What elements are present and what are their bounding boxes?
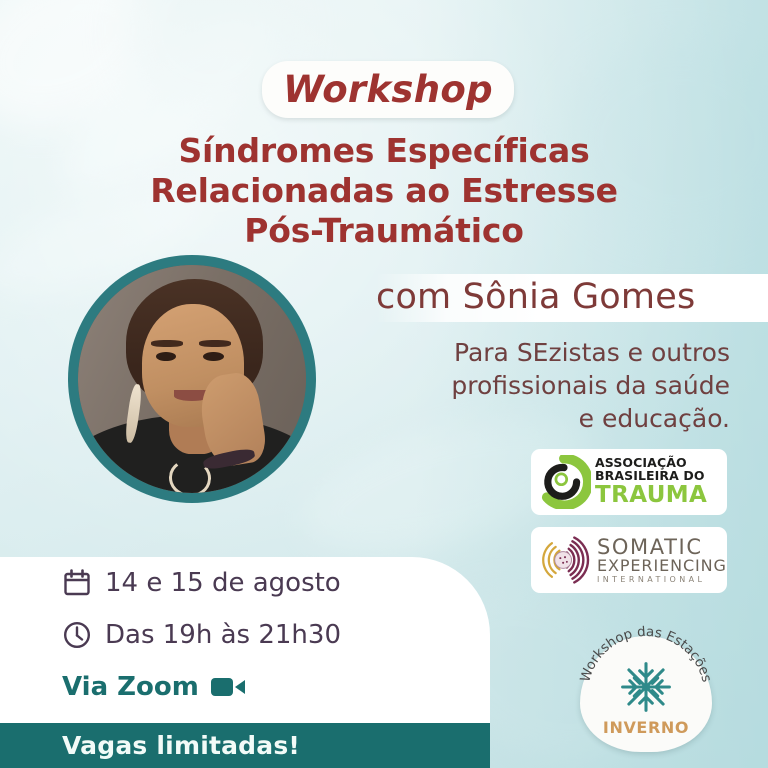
se-line-1: SOMATIC — [597, 537, 727, 558]
footer-text: Vagas limitadas! — [62, 731, 300, 760]
audience-description: Para SEzistas e outros profissionais da … — [400, 336, 730, 435]
se-concentric-arcs-icon — [537, 532, 593, 588]
audience-line-3: e educação. — [400, 402, 730, 435]
calendar-icon — [62, 568, 92, 598]
workshop-badge: Workshop — [262, 61, 514, 118]
abt-line-2: BRASILEIRA DO — [595, 470, 707, 483]
detail-time-text: Das 19h às 21h30 — [105, 620, 341, 650]
logo-somatic-experiencing-international: SOMATIC EXPERIENCING INTERNATIONAL — [531, 527, 727, 593]
page-title: Síndromes Específicas Relacionadas ao Es… — [0, 131, 768, 251]
se-line-3: INTERNATIONAL — [597, 576, 727, 584]
portrait-eye-left — [156, 352, 177, 361]
poster-canvas: Workshop Síndromes Específicas Relaciona… — [0, 0, 768, 768]
title-line-3: Pós-Traumático — [0, 211, 768, 251]
abt-spiral-icon — [537, 455, 591, 509]
abt-wordmark: ASSOCIAÇÃO BRASILEIRA DO TRAUMA — [595, 457, 707, 507]
title-line-1: Síndromes Específicas — [0, 131, 768, 171]
audience-line-2: profissionais da saúde — [400, 369, 730, 402]
seal-season-label: INVERNO — [580, 718, 712, 737]
speaker-portrait — [68, 255, 316, 503]
detail-row-time: Das 19h às 21h30 — [62, 620, 341, 650]
abt-line-3: TRAUMA — [595, 484, 707, 507]
workshop-badge-label: Workshop — [283, 68, 493, 111]
detail-row-date: 14 e 15 de agosto — [62, 568, 341, 598]
speaker-name: com Sônia Gomes — [376, 272, 736, 322]
portrait-brow-left — [151, 340, 183, 347]
video-camera-icon — [210, 676, 246, 698]
detail-date-text: 14 e 15 de agosto — [105, 568, 341, 598]
clock-icon — [62, 620, 92, 650]
detail-row-platform: Via Zoom — [62, 672, 246, 702]
title-line-2: Relacionadas ao Estresse — [0, 171, 768, 211]
portrait-brow-right — [199, 340, 231, 347]
se-wordmark: SOMATIC EXPERIENCING INTERNATIONAL — [597, 537, 727, 584]
snowflake-icon — [619, 660, 673, 714]
se-line-2: EXPERIENCING — [597, 558, 727, 574]
audience-line-1: Para SEzistas e outros — [400, 336, 730, 369]
logo-associacao-brasileira-do-trauma: ASSOCIAÇÃO BRASILEIRA DO TRAUMA — [531, 449, 727, 515]
season-seal: Workshop das Estações INVERNO — [572, 622, 720, 754]
platform-label: Via Zoom — [62, 672, 199, 702]
footer-bar: Vagas limitadas! — [0, 723, 490, 768]
portrait-eye-right — [203, 352, 224, 361]
portrait-image — [78, 265, 306, 493]
